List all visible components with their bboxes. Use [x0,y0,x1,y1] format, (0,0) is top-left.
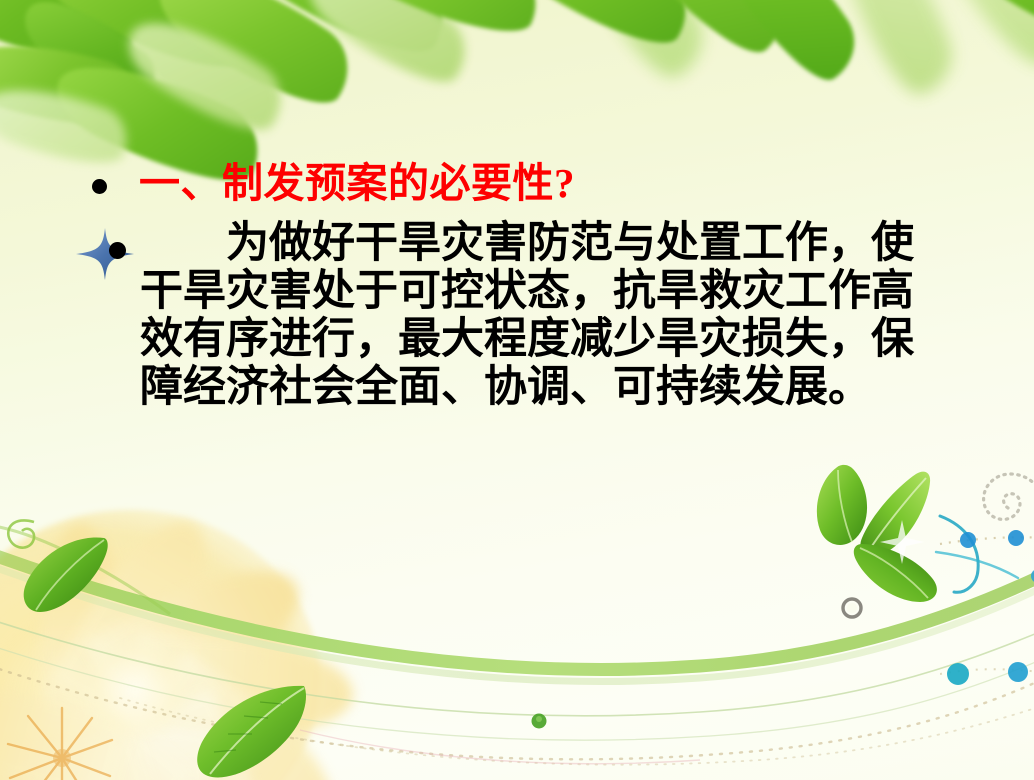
star-bullet-group [76,225,138,281]
body-bullet-row: 为做好干旱灾害防范与处置工作，使干旱灾害处于可控状态，抗旱救灾工作高效有序进行，… [76,222,976,412]
slide-content: 一、制发预案的必要性? 为做好干旱灾害防范与处置工作，使干旱灾害处 [0,0,1034,780]
title-bullet-row: 一、制发预案的必要性? [92,158,575,208]
round-bullet-icon [92,179,107,194]
round-bullet-icon [109,242,126,259]
four-point-star-icon [76,228,134,280]
slide-canvas: 一、制发预案的必要性? 为做好干旱灾害防范与处置工作，使干旱灾害处 [0,0,1034,780]
body-paragraph: 为做好干旱灾害防范与处置工作，使干旱灾害处于可控状态，抗旱救灾工作高效有序进行，… [140,220,946,412]
page-title: 一、制发预案的必要性? [139,158,575,208]
